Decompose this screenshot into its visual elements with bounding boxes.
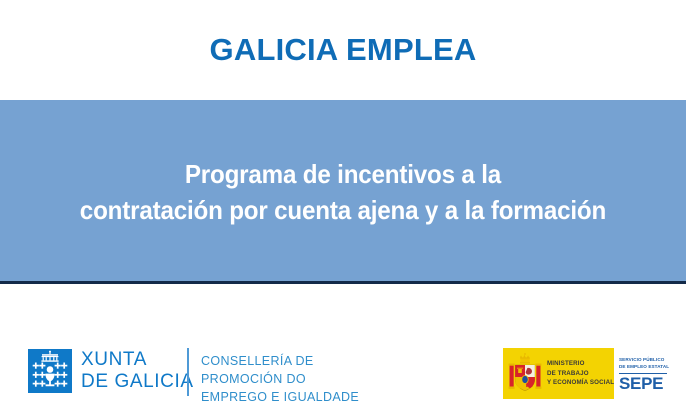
sepe-subtitle: SERVICIO PÚBLICO DE EMPLEO ESTATAL	[619, 357, 669, 370]
xunta-de-galicia-logo: XUNTA DE GALICIA	[28, 349, 194, 394]
header-area: GALICIA EMPLEA	[0, 0, 686, 100]
ministerio-line-1: MINISTERIO	[547, 359, 614, 369]
sepe-logo: SERVICIO PÚBLICO DE EMPLEO ESTATAL SEPE	[614, 348, 674, 399]
conselleria-line-2: PROMOCIÓN DO	[201, 370, 359, 388]
ministerio-trabajo-logo: MINISTERIO DE TRABAJO Y ECONOMÍA SOCIAL	[503, 348, 614, 399]
ministerio-label: MINISTERIO DE TRABAJO Y ECONOMÍA SOCIAL	[547, 359, 614, 388]
xunta-wordmark: XUNTA DE GALICIA	[81, 349, 194, 394]
banner-text: Programa de incentivos a la contratación…	[80, 157, 606, 229]
sepe-subtitle-line-1: SERVICIO PÚBLICO	[619, 357, 669, 364]
xunta-wordmark-line-1: XUNTA	[81, 349, 194, 371]
conselleria-line-1: CONSELLERÍA DE	[201, 352, 359, 370]
sepe-subtitle-line-2: DE EMPLEO ESTATAL	[619, 364, 669, 371]
program-banner: Programa de incentivos a la contratación…	[0, 100, 686, 281]
sepe-acronym: SEPE	[619, 375, 669, 392]
gobierno-de-espana-logo-group: MINISTERIO DE TRABAJO Y ECONOMÍA SOCIAL …	[503, 348, 674, 399]
ministerio-line-3: Y ECONOMÍA SOCIAL	[547, 378, 614, 388]
conselleria-line-3: EMPREGO E IGUALDADE	[201, 388, 359, 406]
page-title: GALICIA EMPLEA	[210, 32, 477, 68]
banner-line-2: contratación por cuenta ajena y a la for…	[80, 193, 606, 229]
conselleria-label: CONSELLERÍA DE PROMOCIÓN DO EMPREGO E IG…	[201, 352, 359, 406]
xunta-wordmark-line-2: DE GALICIA	[81, 371, 194, 393]
logo-divider	[187, 348, 189, 396]
xunta-chalice-emblem-icon	[28, 349, 72, 393]
banner-line-1: Programa de incentivos a la	[80, 157, 606, 193]
ministerio-line-2: DE TRABAJO	[547, 369, 614, 379]
spain-coat-of-arms-icon	[508, 353, 542, 395]
